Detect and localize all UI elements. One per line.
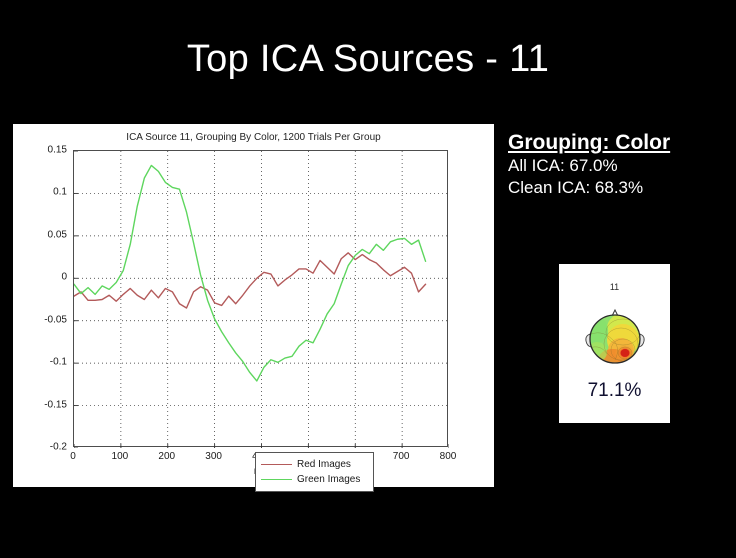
- series-line-red-images: [74, 253, 426, 308]
- y-tick-label: 0.05: [13, 229, 67, 240]
- chart-title: ICA Source 11, Grouping By Color, 1200 T…: [13, 132, 494, 143]
- chart-gridlines: [74, 151, 449, 448]
- slide-root: Top ICA Sources - 11 ICA Source 11, Grou…: [0, 0, 736, 558]
- x-tick-label: 100: [112, 451, 129, 462]
- topoplot-panel: 11: [559, 264, 670, 423]
- clean-ica-accuracy: Clean ICA: 68.3%: [508, 177, 734, 199]
- x-tick-label: 800: [440, 451, 457, 462]
- legend-label-green: Green Images: [297, 474, 360, 485]
- x-tick-label: 700: [393, 451, 410, 462]
- scalp-topography-map: [583, 306, 647, 368]
- all-ica-accuracy: All ICA: 67.0%: [508, 155, 734, 177]
- legend-item-red: Red Images: [261, 457, 368, 472]
- y-tick-label: -0.05: [13, 314, 67, 325]
- chart-svg: [74, 151, 449, 448]
- x-tick-label: 0: [70, 451, 76, 462]
- topoplot-accuracy: 71.1%: [559, 380, 670, 402]
- grouping-heading: Grouping: Color: [508, 130, 734, 155]
- chart-legend: Red Images Green Images: [255, 452, 374, 492]
- y-tick-label: 0.1: [13, 187, 67, 198]
- series-line-green-images: [74, 165, 426, 381]
- topo-svg: [583, 306, 647, 368]
- legend-swatch-red: [261, 464, 292, 465]
- figure-panel: ICA Source 11, Grouping By Color, 1200 T…: [13, 124, 494, 487]
- x-tick-label: 200: [158, 451, 175, 462]
- legend-label-red: Red Images: [297, 459, 351, 470]
- grouping-info-block: Grouping: Color All ICA: 67.0% Clean ICA…: [508, 130, 734, 199]
- legend-swatch-green: [261, 479, 292, 480]
- y-tick-label: -0.2: [13, 442, 67, 453]
- y-tick-label: -0.15: [13, 399, 67, 410]
- y-tick-label: -0.1: [13, 357, 67, 368]
- page-title: Top ICA Sources - 11: [0, 38, 736, 81]
- x-tick-label: 300: [205, 451, 222, 462]
- topoplot-component-index: 11: [559, 282, 670, 292]
- plot-area: [73, 150, 448, 447]
- y-tick-label: 0.15: [13, 145, 67, 156]
- y-tick-label: 0: [13, 272, 67, 283]
- legend-item-green: Green Images: [261, 472, 368, 487]
